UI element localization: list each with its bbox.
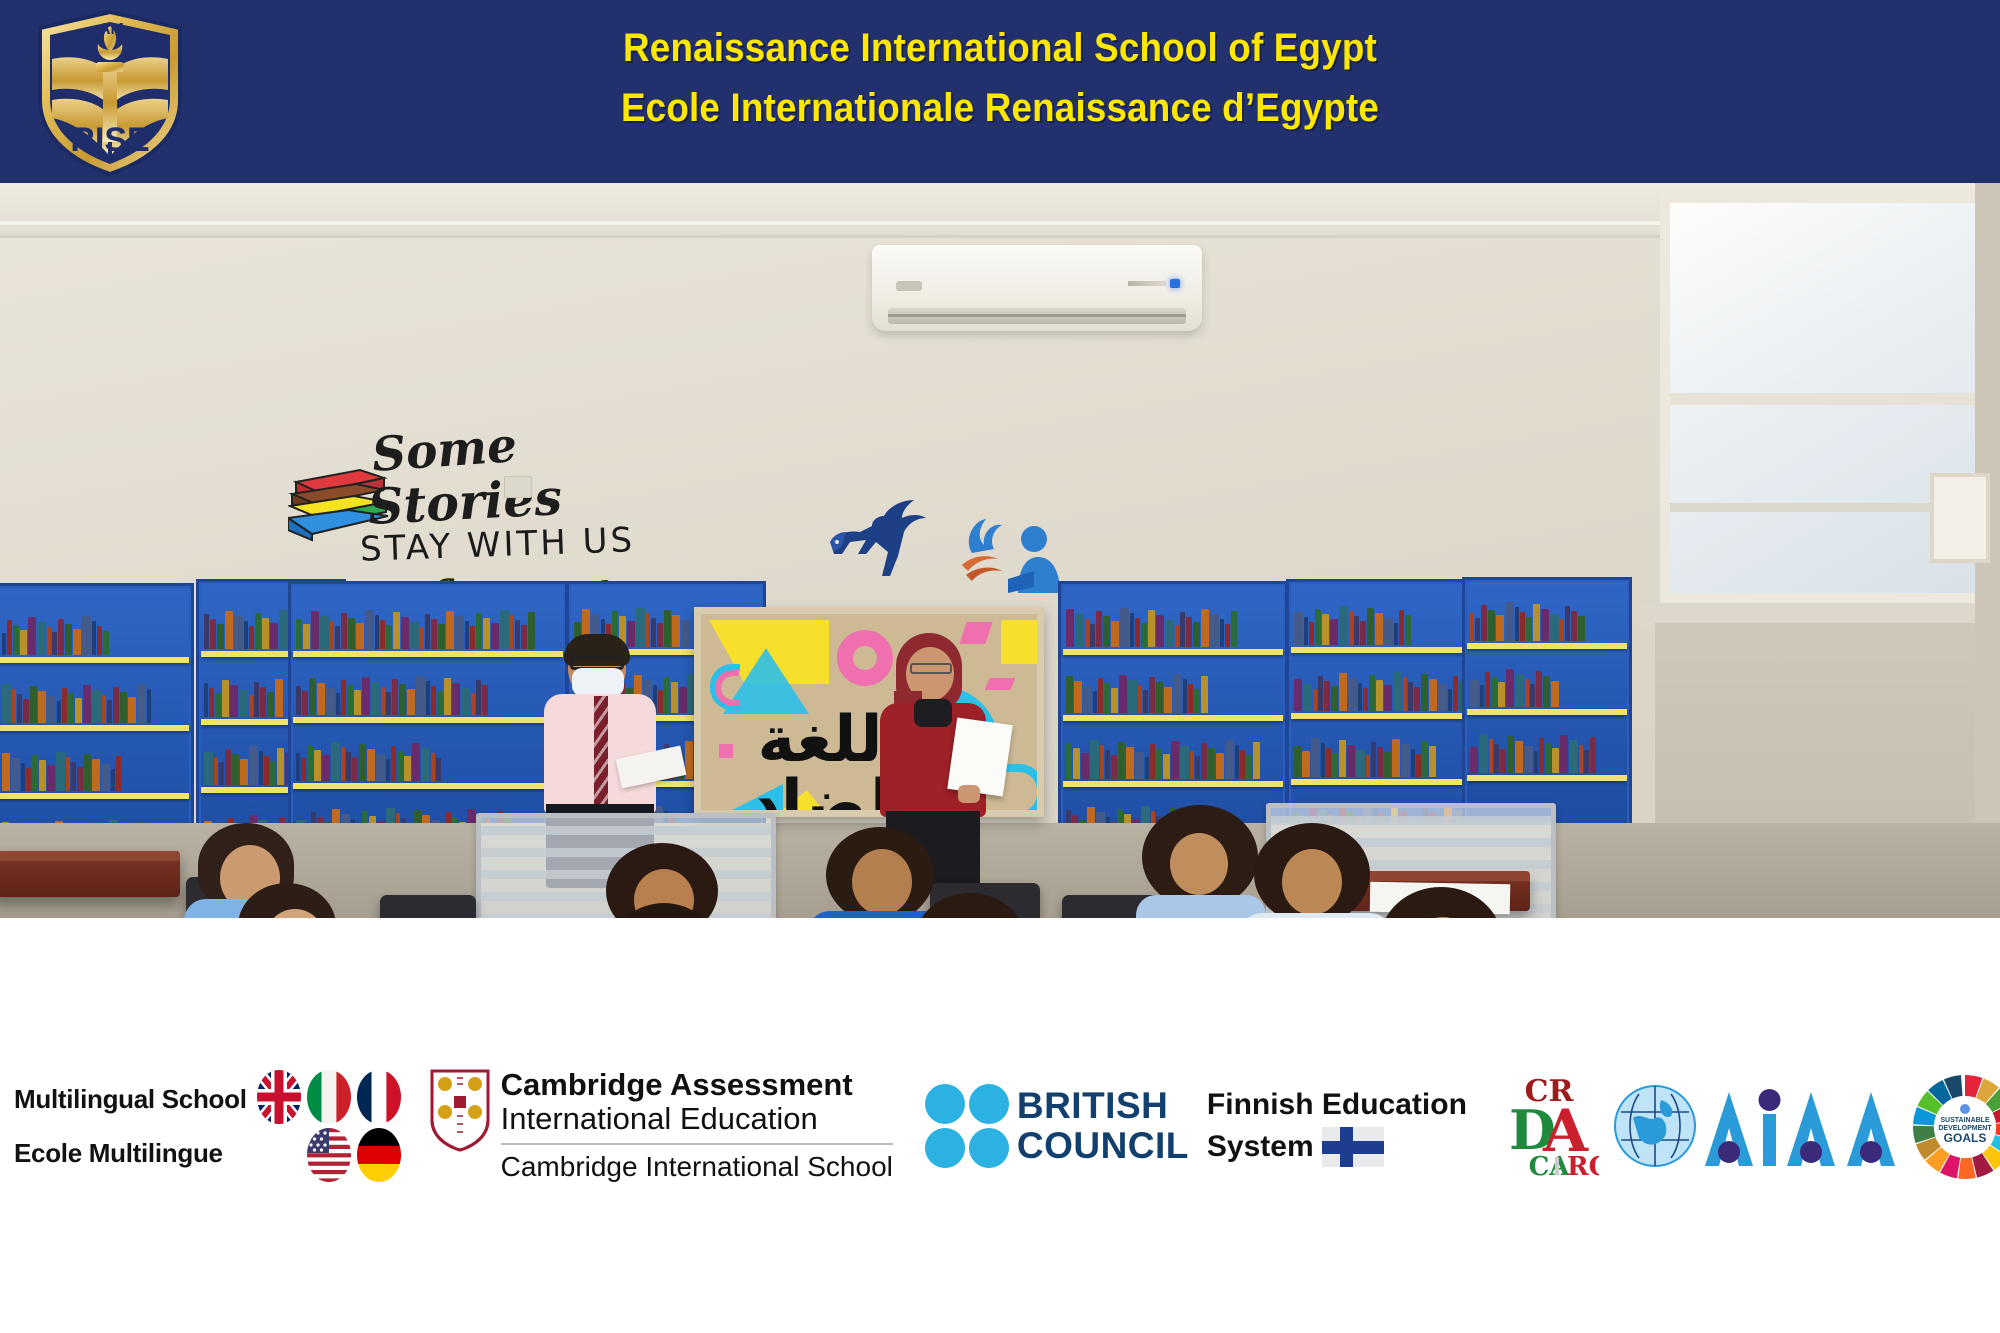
cambridge-title-2: International Education	[501, 1102, 893, 1136]
book-row	[2, 615, 186, 655]
footer-sdg-block: SUSTAINABLE DEVELOPMENT GOALS	[1909, 1071, 2000, 1181]
book-row	[2, 751, 186, 791]
footer-cambridge-block: Cambridge Assessment International Educa…	[429, 1068, 893, 1183]
multilingual-school-label: Multilingual School	[14, 1072, 247, 1126]
british-council-word-2: COUNCIL	[1017, 1126, 1189, 1166]
table-back-left	[0, 851, 180, 897]
flag-germany-icon	[357, 1128, 401, 1182]
da-cairo-logo-icon: CR D A CA RO	[1499, 1071, 1599, 1183]
bookcase-right-3	[1462, 577, 1632, 837]
british-council-word-1: BRITISH	[1017, 1086, 1189, 1126]
flag-uk-icon	[257, 1070, 301, 1124]
cambridge-title-1: Cambridge Assessment	[501, 1068, 893, 1102]
flag-france-icon	[357, 1070, 401, 1124]
header-titles: Renaissance International School of Egyp…	[0, 18, 2000, 138]
header-title-fr: Ecole Internationale Renaissance d’Egypt…	[80, 78, 1920, 138]
student-10	[1346, 887, 1536, 918]
page-root: IB. AM. IG. RISE Renaissance Internation…	[0, 0, 2000, 1333]
sdg-wheel-icon: SUSTAINABLE DEVELOPMENT GOALS	[1909, 1071, 2000, 1183]
flag-italy-icon	[307, 1070, 351, 1124]
finnish-line-2: System	[1207, 1126, 1314, 1168]
book-row	[1066, 739, 1280, 779]
cambridge-shield-icon	[429, 1068, 491, 1152]
knight-on-horseback-icon	[828, 498, 948, 578]
aiaa-letters-icon	[1701, 1078, 1901, 1174]
book-row	[1066, 607, 1280, 647]
student-7	[890, 893, 1060, 918]
ecole-multilingue-label: Ecole Multilingue	[14, 1126, 247, 1180]
footer-aiaa-block	[1609, 1078, 1901, 1174]
sdg-label-3: GOALS	[1944, 1131, 1987, 1145]
book-row	[2, 683, 186, 723]
sdg-label-1: SUSTAINABLE	[1940, 1117, 1990, 1124]
air-conditioner	[872, 245, 1202, 331]
svg-text:CA: CA	[1528, 1152, 1570, 1182]
finnish-line-1: Finnish Education	[1207, 1084, 1467, 1126]
footer-finnish-block: Finnish Education System	[1207, 1084, 1467, 1168]
footer-british-council-block: BRITISH COUNCIL	[925, 1084, 1189, 1168]
book-row	[296, 675, 560, 715]
library-photo: Some Stories STAY WITH US forever	[0, 183, 2000, 918]
student-5	[580, 903, 760, 918]
flag-finland-icon	[1322, 1127, 1384, 1167]
window-lower-wall	[1655, 623, 2000, 833]
header-title-en: Renaissance International School of Egyp…	[80, 18, 1920, 78]
cambridge-rule	[501, 1143, 893, 1145]
cambridge-subtitle: Cambridge International School	[501, 1151, 893, 1183]
flag-group	[257, 1070, 401, 1182]
footer-multilingual-block: Multilingual School Ecole Multilingue	[14, 1070, 401, 1182]
aiaa-globe-icon	[1609, 1078, 1701, 1174]
wall-frame	[1930, 473, 1990, 563]
light-switch[interactable]	[504, 476, 532, 498]
book-row	[1470, 667, 1624, 707]
accreditation-footer: Multilingual School Ecole Multilingue	[0, 918, 2000, 1333]
book-row	[1066, 673, 1280, 713]
svg-text:RO: RO	[1567, 1152, 1599, 1182]
book-row	[296, 741, 560, 781]
flag-usa-icon	[307, 1128, 351, 1182]
footer-da-cairo-block: CR D A CA RO	[1499, 1071, 1599, 1181]
book-row	[296, 609, 560, 649]
student-3	[212, 883, 392, 918]
book-row	[1470, 601, 1624, 641]
british-council-dots-icon	[925, 1084, 1009, 1168]
person-reading-icon	[948, 513, 1058, 593]
site-header: IB. AM. IG. RISE Renaissance Internation…	[0, 0, 2000, 183]
book-row	[1470, 733, 1624, 773]
chair-2	[380, 895, 476, 918]
